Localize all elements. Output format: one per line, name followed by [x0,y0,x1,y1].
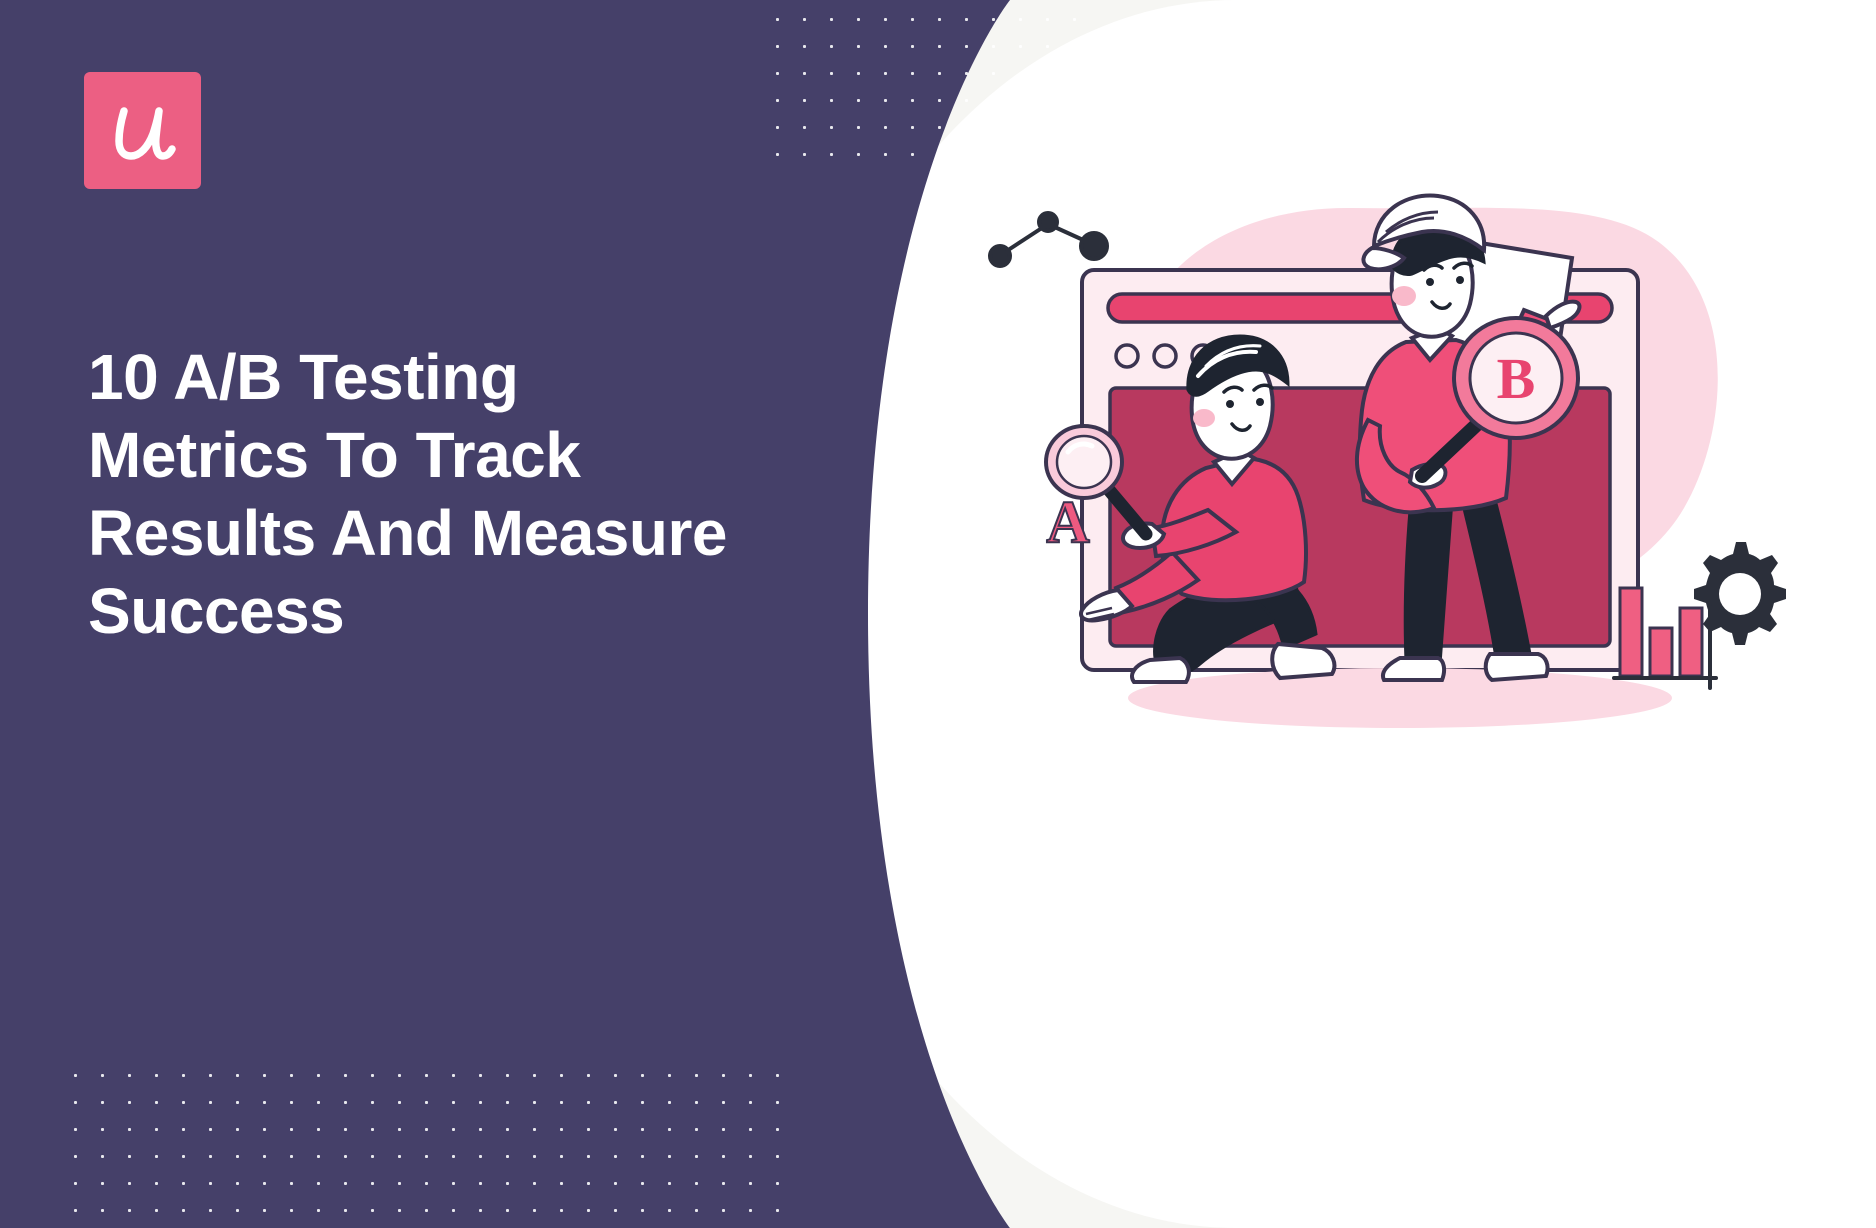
ab-testing-illustration: B [960,170,1840,770]
magnifier-a [1046,426,1122,498]
cover-canvas: 10 A/B Testing Metrics To Track Results … [0,0,1876,1228]
node-graph-decoration [990,213,1107,266]
userpilot-logo[interactable] [84,72,201,189]
magnifier-b: B [1454,318,1578,438]
page-title: 10 A/B Testing Metrics To Track Results … [88,338,728,650]
bar-chart-icon [1614,588,1716,688]
logo-letter-u-icon [108,91,178,171]
gear-icon [1694,542,1786,645]
variant-a-label: A [1046,489,1089,555]
variant-b-label: B [1497,346,1536,411]
